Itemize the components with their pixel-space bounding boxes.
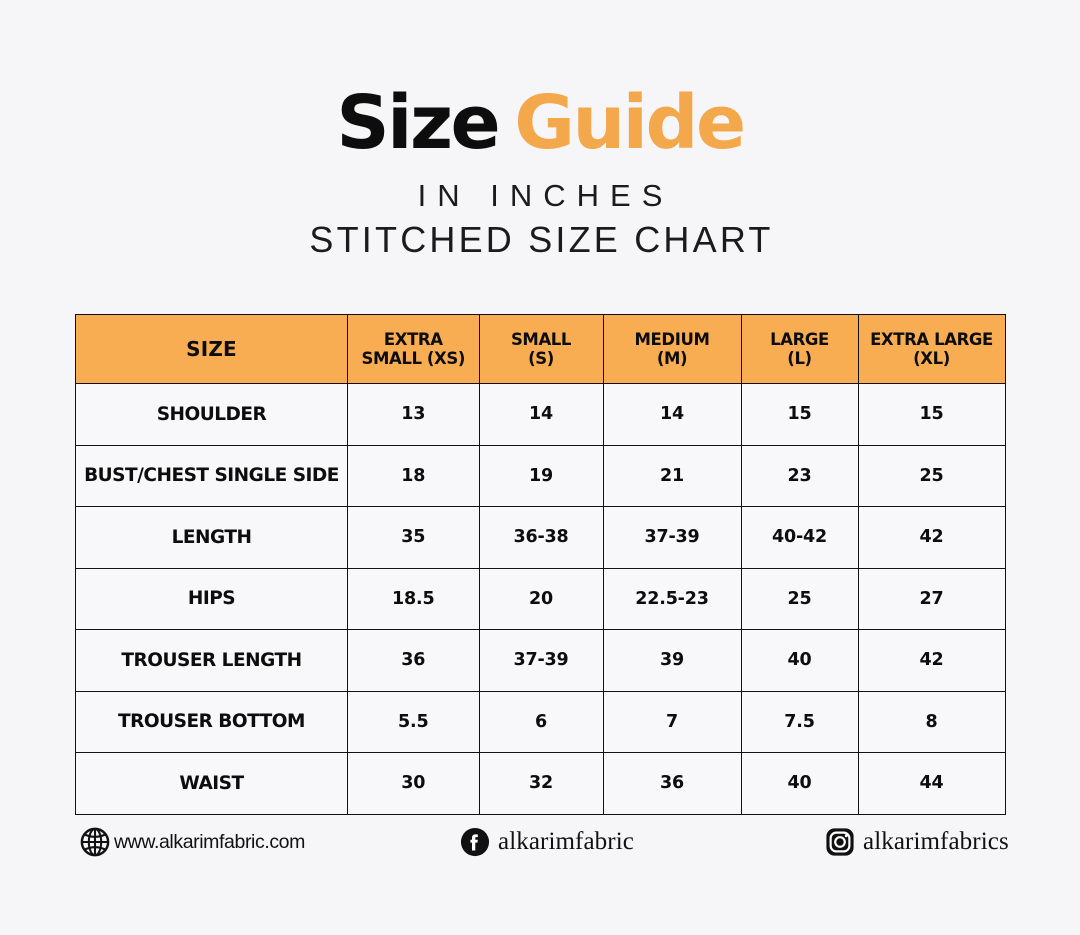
row-label-shoulder: SHOULDER — [76, 384, 348, 446]
page-title: SizeGuide — [0, 84, 1080, 162]
globe-icon — [80, 827, 110, 857]
cell-trouser-length-xl: 42 — [858, 630, 1005, 692]
row-label-waist: WAIST — [76, 753, 348, 815]
footer-facebook-label: alkarimfabric — [494, 828, 634, 856]
table-body: SHOULDER 13 14 14 15 15 BUST/CHEST SINGL… — [76, 384, 1006, 815]
cell-trouser-bottom-m: 7 — [603, 691, 741, 753]
cell-trouser-length-xs: 36 — [348, 630, 480, 692]
footer-instagram[interactable]: alkarimfabrics — [825, 818, 1009, 866]
column-header-xl-line1: EXTRA LARGE — [870, 330, 993, 349]
cell-length-xs: 35 — [348, 507, 480, 569]
table-header-row: SIZE EXTRA SMALL (XS) SMALL (S) MEDIUM (… — [76, 315, 1006, 384]
column-header-s: SMALL (S) — [479, 315, 603, 384]
cell-waist-s: 32 — [479, 753, 603, 815]
table-row: LENGTH 35 36-38 37-39 40-42 42 — [76, 507, 1006, 569]
footer-instagram-label: alkarimfabrics — [859, 828, 1009, 856]
cell-trouser-length-l: 40 — [741, 630, 858, 692]
cell-trouser-bottom-xs: 5.5 — [348, 691, 480, 753]
cell-bust-xl: 25 — [858, 445, 1005, 507]
column-header-s-line1: SMALL — [511, 330, 571, 349]
column-header-l: LARGE (L) — [741, 315, 858, 384]
cell-hips-m: 22.5-23 — [603, 568, 741, 630]
column-header-l-line2: (L) — [787, 349, 811, 368]
column-header-xs-line2: SMALL (XS) — [361, 349, 465, 368]
column-header-m-line1: MEDIUM — [635, 330, 710, 349]
cell-shoulder-xl: 15 — [858, 384, 1005, 446]
table-row: TROUSER LENGTH 36 37-39 39 40 42 — [76, 630, 1006, 692]
cell-hips-s: 20 — [479, 568, 603, 630]
size-guide-page: SizeGuide IN INCHES STITCHED SIZE CHART … — [0, 0, 1080, 935]
subtitle-units: IN INCHES — [0, 176, 1080, 216]
cell-waist-xl: 44 — [858, 753, 1005, 815]
cell-bust-xs: 18 — [348, 445, 480, 507]
cell-trouser-bottom-l: 7.5 — [741, 691, 858, 753]
cell-bust-s: 19 — [479, 445, 603, 507]
footer: www.alkarimfabric.com alkarimfabric — [75, 818, 1005, 868]
cell-hips-xl: 27 — [858, 568, 1005, 630]
cell-trouser-length-m: 39 — [603, 630, 741, 692]
title-word-guide: Guide — [514, 80, 743, 166]
cell-trouser-bottom-xl: 8 — [858, 691, 1005, 753]
table-row: SHOULDER 13 14 14 15 15 — [76, 384, 1006, 446]
cell-length-s: 36-38 — [479, 507, 603, 569]
size-chart-table: SIZE EXTRA SMALL (XS) SMALL (S) MEDIUM (… — [75, 314, 1006, 815]
table-row: TROUSER BOTTOM 5.5 6 7 7.5 8 — [76, 691, 1006, 753]
cell-waist-m: 36 — [603, 753, 741, 815]
column-header-size: SIZE — [76, 315, 348, 384]
table-header: SIZE EXTRA SMALL (XS) SMALL (S) MEDIUM (… — [76, 315, 1006, 384]
cell-shoulder-l: 15 — [741, 384, 858, 446]
cell-trouser-bottom-s: 6 — [479, 691, 603, 753]
footer-facebook[interactable]: alkarimfabric — [460, 818, 634, 866]
table-row: WAIST 30 32 36 40 44 — [76, 753, 1006, 815]
cell-waist-xs: 30 — [348, 753, 480, 815]
subtitle-chart-type: STITCHED SIZE CHART — [0, 218, 1080, 262]
footer-website[interactable]: www.alkarimfabric.com — [80, 818, 305, 866]
cell-bust-m: 21 — [603, 445, 741, 507]
column-header-l-line1: LARGE — [770, 330, 829, 349]
column-header-m-line2: (M) — [657, 349, 687, 368]
column-header-m: MEDIUM (M) — [603, 315, 741, 384]
cell-waist-l: 40 — [741, 753, 858, 815]
cell-length-xl: 42 — [858, 507, 1005, 569]
table-row: BUST/CHEST SINGLE SIDE 18 19 21 23 25 — [76, 445, 1006, 507]
title-block: SizeGuide IN INCHES STITCHED SIZE CHART — [0, 84, 1080, 262]
facebook-icon — [460, 827, 490, 857]
cell-shoulder-s: 14 — [479, 384, 603, 446]
column-header-xl: EXTRA LARGE (XL) — [858, 315, 1005, 384]
instagram-icon — [825, 827, 855, 857]
title-word-size: Size — [336, 80, 498, 166]
column-header-xs-line1: EXTRA — [384, 330, 443, 349]
row-label-bust-chest: BUST/CHEST SINGLE SIDE — [76, 445, 348, 507]
cell-hips-l: 25 — [741, 568, 858, 630]
column-header-s-line2: (S) — [528, 349, 554, 368]
column-header-xl-line2: (XL) — [913, 349, 950, 368]
row-label-trouser-length: TROUSER LENGTH — [76, 630, 348, 692]
column-header-xs: EXTRA SMALL (XS) — [348, 315, 480, 384]
footer-website-label: www.alkarimfabric.com — [114, 831, 305, 854]
row-label-trouser-bottom: TROUSER BOTTOM — [76, 691, 348, 753]
cell-length-l: 40-42 — [741, 507, 858, 569]
row-label-length: LENGTH — [76, 507, 348, 569]
table-row: HIPS 18.5 20 22.5-23 25 27 — [76, 568, 1006, 630]
cell-trouser-length-s: 37-39 — [479, 630, 603, 692]
cell-hips-xs: 18.5 — [348, 568, 480, 630]
cell-bust-l: 23 — [741, 445, 858, 507]
cell-shoulder-m: 14 — [603, 384, 741, 446]
row-label-hips: HIPS — [76, 568, 348, 630]
cell-shoulder-xs: 13 — [348, 384, 480, 446]
cell-length-m: 37-39 — [603, 507, 741, 569]
